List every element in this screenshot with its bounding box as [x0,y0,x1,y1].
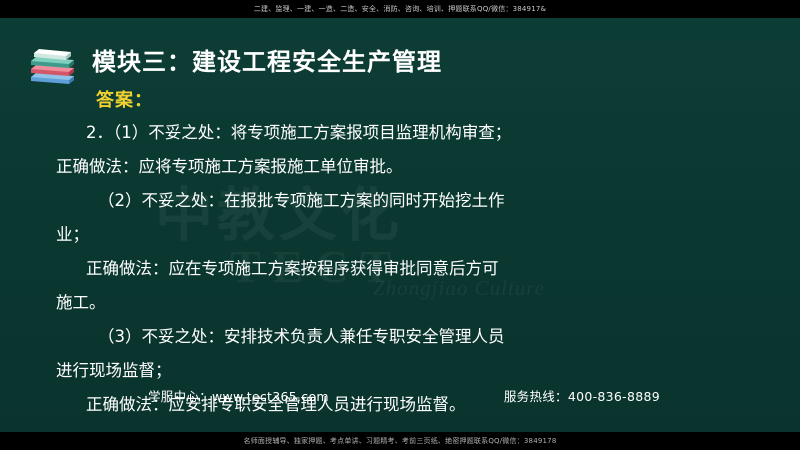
page-title: 模块三：建设工程安全生产管理 [92,42,442,77]
answer-body: 2．（1）不妥之处：将专项施工方案报项目监理机构审查； 正确做法：应将专项施工方… [56,116,756,422]
slide: 二建、监理、一建、一造、二造、安全、消防、咨询、培训、押题联系QQ/微信：384… [0,0,800,450]
bottom-banner: 名师面授辅导、独家押题、考点单讲、习题精考、考前三页纸、绝密押题联系QQ/微信：… [0,432,800,450]
answer-line: 业； [56,218,756,252]
answer-label: 答案： [96,86,153,112]
slide-footer: 学服中心：www.tect365.com 服务热线：400-836-8889 [0,384,800,414]
answer-line: （3）不妥之处：安排技术负责人兼任专职安全管理人员 [56,320,756,354]
footer-website: 学服中心：www.tect365.com [148,386,329,405]
answer-line: 正确做法：应在专项施工方案按程序获得审批同意后方可 [56,252,756,286]
answer-line: （2）不妥之处：在报批专项施工方案的同时开始挖土作 [56,184,756,218]
slide-content: 中教文化 TECT Zhongjiao Culture [0,18,800,432]
answer-line: 施工。 [56,286,756,320]
footer-hotline: 服务热线：400-836-8889 [504,386,660,405]
answer-line: 进行现场监督； [56,354,756,388]
top-banner: 二建、监理、一建、一造、二造、安全、消防、咨询、培训、押题联系QQ/微信：384… [0,0,800,18]
answer-line: 2．（1）不妥之处：将专项施工方案报项目监理机构审查； [56,116,756,150]
books-icon [28,43,78,87]
answer-line: 正确做法：应将专项施工方案报施工单位审批。 [56,150,756,184]
